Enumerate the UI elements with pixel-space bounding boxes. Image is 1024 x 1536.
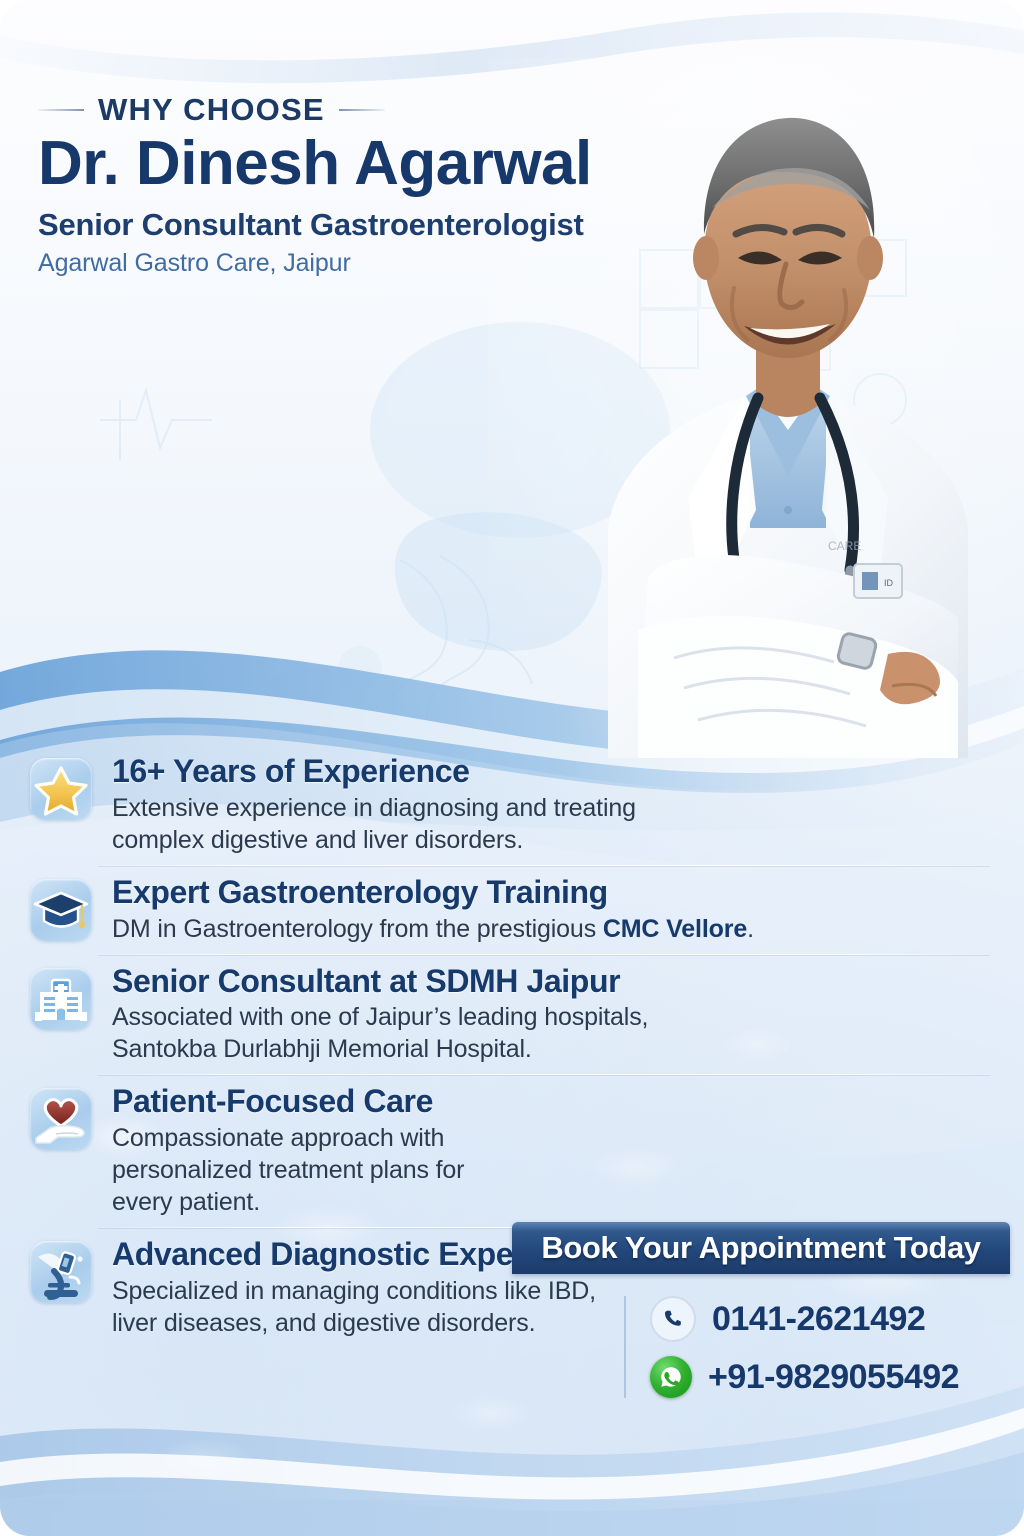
whatsapp-number: +91-9829055492: [708, 1358, 959, 1397]
feature-desc-line: Extensive experience in diagnosing and t…: [112, 794, 636, 822]
feature-desc-prefix: DM in Gastroenterology from the prestigi…: [112, 915, 603, 943]
feature-desc: Associated with one of Jaipur’s leading …: [112, 1001, 994, 1065]
feature-desc-line: Compassionate approach with: [112, 1124, 444, 1152]
feature-desc-line: personalized treatment plans for: [112, 1156, 464, 1184]
phone-icon: [650, 1296, 696, 1342]
contact-whatsapp-row[interactable]: +91-9829055492: [650, 1356, 1010, 1398]
eyebrow-row: WHY CHOOSE: [38, 92, 658, 128]
microscope-icon-glyph: [30, 1241, 92, 1303]
feature-title: Expert Gastroenterology Training: [112, 875, 994, 911]
feature-desc: DM in Gastroenterology from the prestigi…: [112, 913, 994, 945]
eyebrow-dash-left: [38, 109, 84, 111]
feature-title: 16+ Years of Experience: [112, 754, 994, 790]
feature-item-experience: 16+ Years of Experience Extensive experi…: [0, 754, 1024, 856]
eyebrow-dash-right: [339, 109, 385, 111]
heart-in-hand-icon-glyph: [30, 1088, 92, 1150]
header-block: WHY CHOOSE Dr. Dinesh Agarwal Senior Con…: [38, 92, 658, 278]
feature-title: Senior Consultant at SDMH Jaipur: [112, 964, 994, 1000]
eyebrow-label: WHY CHOOSE: [98, 92, 325, 128]
feature-desc-line: Associated with one of Jaipur’s leading …: [112, 1003, 648, 1031]
feature-desc-suffix: .: [747, 915, 754, 943]
hospital-icon: [30, 968, 92, 1030]
phone-number: 0141-2621492: [712, 1300, 925, 1339]
doctor-role: Senior Consultant Gastroenterologist: [38, 207, 658, 243]
cta-block: Book Your Appointment Today 0141-2621492: [512, 1222, 1010, 1398]
feature-desc: Extensive experience in diagnosing and t…: [112, 792, 994, 856]
graduation-cap-icon: [30, 879, 92, 941]
book-appointment-label: Book Your Appointment Today: [541, 1230, 980, 1266]
whatsapp-icon: [650, 1356, 692, 1398]
hospital-icon-glyph: [30, 968, 92, 1030]
feature-text: 16+ Years of Experience Extensive experi…: [112, 754, 994, 856]
feature-title: Patient-Focused Care: [112, 1084, 994, 1120]
feature-desc-highlight: CMC Vellore: [603, 915, 747, 943]
feature-text: Expert Gastroenterology Training DM in G…: [112, 875, 994, 945]
feature-item-sdmh: Senior Consultant at SDMH Jaipur Associa…: [0, 964, 1024, 1066]
page-title: Dr. Dinesh Agarwal: [38, 132, 658, 195]
feature-separator: [98, 954, 990, 955]
feature-desc-line: complex digestive and liver disorders.: [112, 826, 523, 854]
svg-text:ID: ID: [884, 578, 894, 588]
book-appointment-banner[interactable]: Book Your Appointment Today: [512, 1222, 1010, 1274]
feature-text: Patient-Focused Care Compassionate appro…: [112, 1084, 994, 1218]
feature-separator: [98, 1074, 990, 1075]
phone-icon-glyph: [662, 1308, 684, 1330]
feature-desc-line: every patient.: [112, 1188, 260, 1216]
star-icon-glyph: [30, 758, 92, 820]
clinic-name: Agarwal Gastro Care, Jaipur: [38, 249, 658, 278]
feature-desc-line: Santokba Durlabhji Memorial Hospital.: [112, 1035, 532, 1063]
star-icon: [30, 758, 92, 820]
graduation-cap-icon-glyph: [30, 879, 92, 941]
contact-phone-row[interactable]: 0141-2621492: [650, 1296, 1010, 1342]
feature-item-training: Expert Gastroenterology Training DM in G…: [0, 875, 1024, 945]
feature-text: Senior Consultant at SDMH Jaipur Associa…: [112, 964, 994, 1066]
feature-desc: Compassionate approach with personalized…: [112, 1122, 994, 1218]
feature-desc-line: liver diseases, and digestive disorders.: [112, 1309, 535, 1337]
heart-in-hand-icon: [30, 1088, 92, 1150]
microscope-icon: [30, 1241, 92, 1303]
svg-text:CARE: CARE: [828, 539, 861, 553]
poster-root: ID CARE WHY CHOOSE Dr. Dinesh Agarwal Se…: [0, 0, 1024, 1536]
whatsapp-icon-glyph: [658, 1364, 684, 1390]
contacts-list: 0141-2621492 +91-9829055492: [624, 1296, 1010, 1398]
feature-separator: [98, 865, 990, 866]
feature-item-patient-care: Patient-Focused Care Compassionate appro…: [0, 1084, 1024, 1218]
